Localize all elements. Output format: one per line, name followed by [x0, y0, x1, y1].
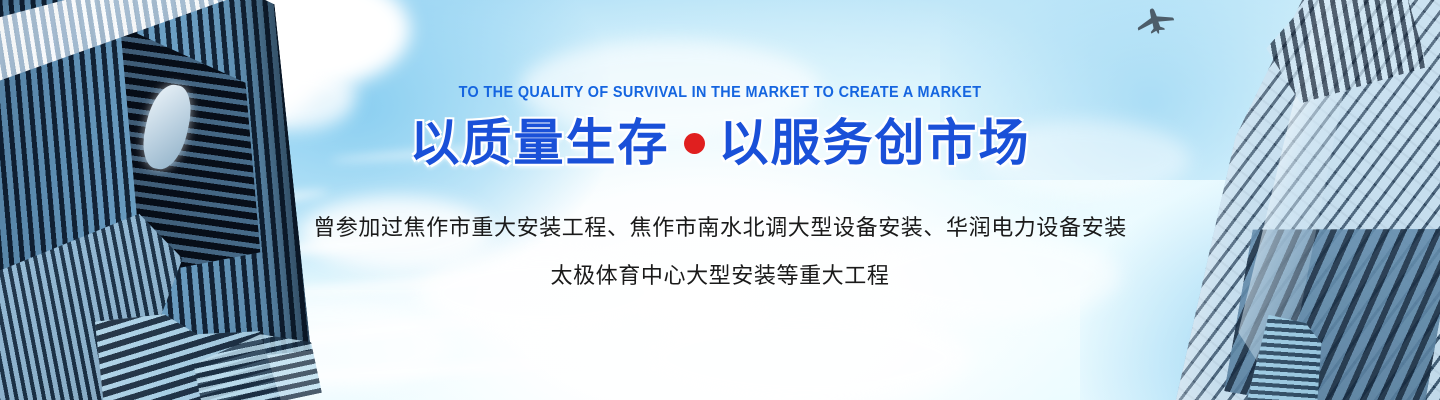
headline-left: 以质量生存: [410, 118, 670, 168]
banner-text-layer: TO THE QUALITY OF SURVIVAL IN THE MARKET…: [0, 0, 1440, 400]
subtitle-line-2: 太极体育中心大型安装等重大工程: [0, 258, 1440, 290]
subtitle-line-1: 曾参加过焦作市重大安装工程、焦作市南水北调大型设备安装、华润电力设备安装: [0, 210, 1440, 242]
headline-row: 以质量生存 以服务创市场: [0, 112, 1440, 174]
headline-right: 以服务创市场: [719, 118, 1031, 168]
english-tagline: TO THE QUALITY OF SURVIVAL IN THE MARKET…: [50, 84, 1389, 102]
red-dot-separator-icon: [684, 133, 705, 154]
promotional-banner: TO THE QUALITY OF SURVIVAL IN THE MARKET…: [0, 0, 1440, 400]
